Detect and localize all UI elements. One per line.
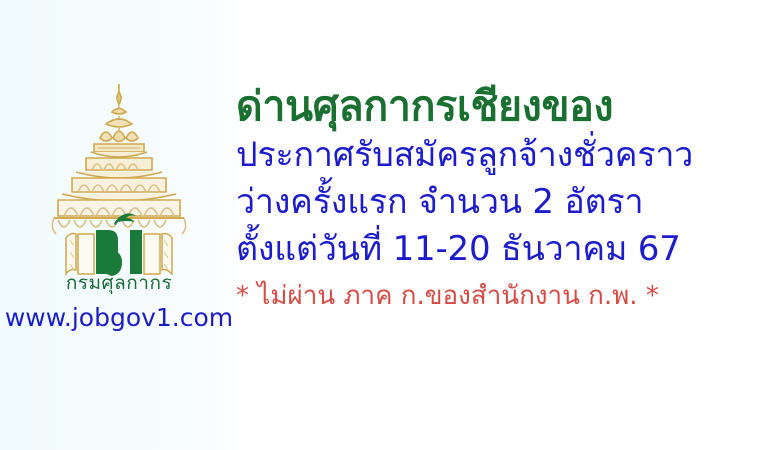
- announcement-text-column: ด่านศุลกากรเชียงของ ประกาศรับสมัครลูกจ้า…: [236, 80, 770, 317]
- page-title: ด่านศุลกากรเชียงของ: [236, 80, 770, 132]
- announcement-line-2: ว่างครั้งแรก จำนวน 2 อัตรา: [236, 179, 770, 226]
- logo-block: กรมศุลกากร: [0, 78, 238, 303]
- department-caption: กรมศุลกากร: [0, 268, 238, 298]
- announcement-line-1: ประกาศรับสมัครลูกจ้างชั่วคราว: [236, 132, 770, 179]
- announcement-banner: กรมศุลกากร www.jobgov1.com ด่านศุลกากรเช…: [0, 0, 770, 450]
- announcement-line-3: ตั้งแต่วันที่ 11-20 ธันวาคม 67: [236, 226, 770, 273]
- thai-customs-crest-icon: [34, 78, 204, 278]
- announcement-note: * ไม่ผ่าน ภาค ก.ของสำนักงาน ก.พ. *: [236, 275, 770, 317]
- website-url[interactable]: www.jobgov1.com: [0, 303, 238, 332]
